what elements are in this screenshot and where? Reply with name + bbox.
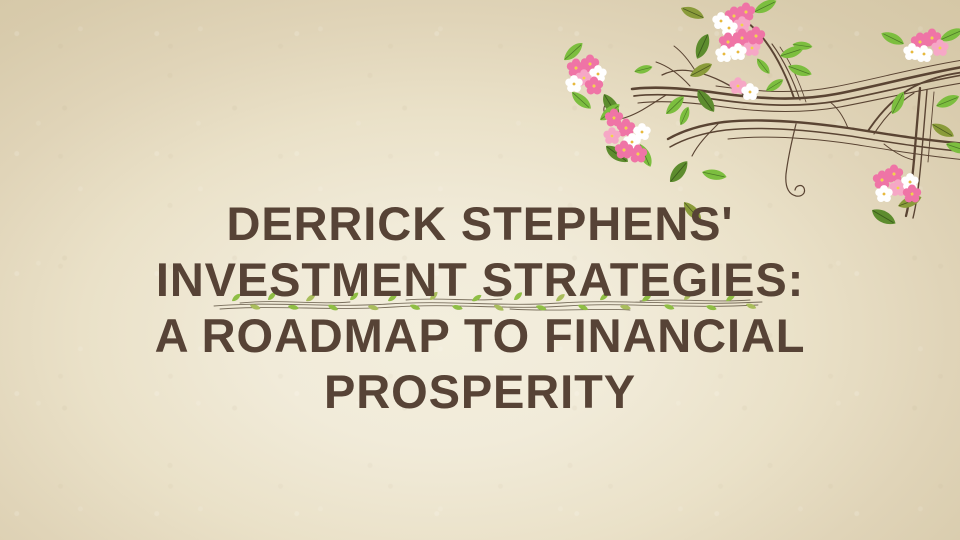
- blossom-cluster-top: [679, 0, 779, 61]
- title-line-3: A Roadmap to Financial: [26, 308, 934, 364]
- blossom-cluster-lower-left: [597, 101, 654, 169]
- leaf-group-scatter: [634, 40, 814, 127]
- title-line-2: Investment Strategies:: [26, 252, 934, 308]
- title-line-4: Prosperity: [26, 364, 934, 420]
- title-slide: Derrick Stephens' Investment Strategies:…: [0, 0, 960, 540]
- page-title: Derrick Stephens' Investment Strategies:…: [0, 196, 960, 420]
- leaf-group-right: [887, 90, 960, 158]
- title-line-1: Derrick Stephens': [26, 196, 934, 252]
- blossom-cluster-mid-upper: [715, 27, 813, 81]
- leaf-group-center: [662, 60, 759, 117]
- blossom-cluster-left: [560, 40, 622, 120]
- blossom-cluster-right-top: [879, 26, 960, 62]
